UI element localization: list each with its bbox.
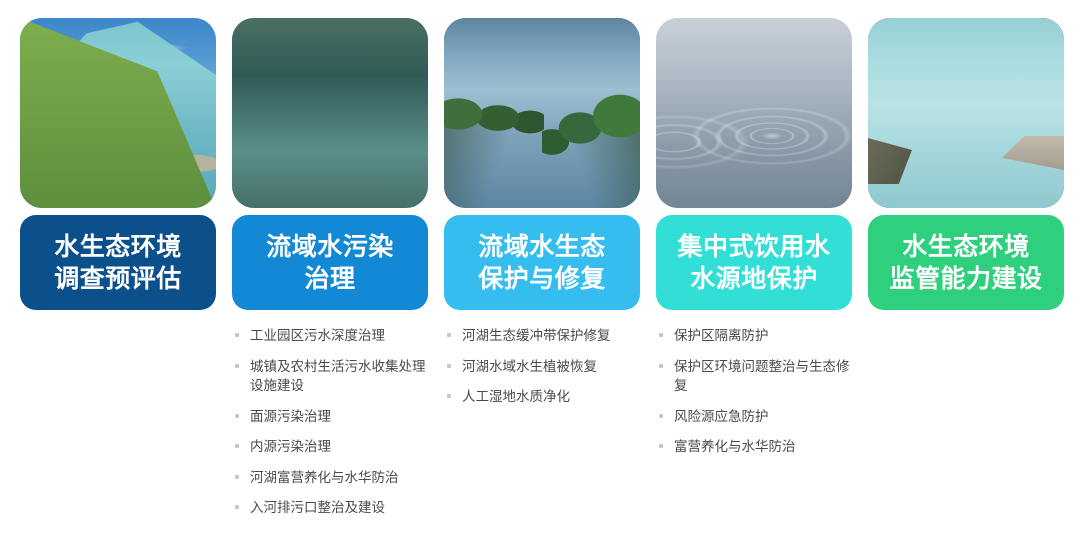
thumbnail-snow-mountain-river-photo [868,18,1064,208]
photo-right-gravel-bank-layer [868,18,1064,208]
thumbnail-mountain-river-forest-photo [20,18,216,208]
bullet-dot-icon [235,444,239,448]
program-list-item[interactable]: 河湖生态缓冲带保护修复 [444,326,640,346]
bullet-dot-icon [235,364,239,368]
program-title-text-1: 水生态环境调查预评估 [54,231,182,295]
program-title-card-1[interactable]: 水生态环境调查预评估 [20,215,216,310]
program-title-card-2[interactable]: 流域水污染治理 [232,215,428,310]
thumbnail-river-with-green-banks-photo [444,18,640,208]
bullet-dot-icon [447,364,451,368]
program-column-4: 集中式饮用水水源地保护 保护区隔离防护保护区环境问题整治与生态修复风险源应急防护… [656,18,852,473]
program-list-item-label: 工业园区污水深度治理 [250,328,385,343]
program-list-item-label: 人工湿地水质净化 [462,389,570,404]
program-title-text-4: 集中式饮用水水源地保护 [677,231,830,295]
program-title-card-5[interactable]: 水生态环境监管能力建设 [868,215,1064,310]
program-item-list-4: 保护区隔离防护保护区环境问题整治与生态修复风险源应急防护富营养化与水华防治 [656,326,852,457]
program-column-3: 流域水生态保护与修复 河湖生态缓冲带保护修复河湖水域水生植被恢复人工湿地水质净化 [444,18,640,423]
photo-shading-layer [656,18,852,208]
program-title-card-4[interactable]: 集中式饮用水水源地保护 [656,215,852,310]
program-list-item-label: 内源污染治理 [250,439,331,454]
program-list-item-label: 河湖富营养化与水华防治 [250,470,399,485]
program-list-item-label: 入河排污口整治及建设 [250,500,385,515]
bullet-dot-icon [235,414,239,418]
water-ecology-program-board: 水生态环境调查预评估 流域水污染治理 工业园区污水深度治理城镇及农村生活污水收集… [0,0,1080,540]
program-list-item[interactable]: 保护区环境问题整治与生态修复 [656,357,852,396]
photo-pond-layer [232,18,428,208]
thumbnail-water-treatment-plant-photo [232,18,428,208]
bullet-dot-icon [659,444,663,448]
program-list-item[interactable]: 河湖水域水生植被恢复 [444,357,640,377]
program-title-text-5: 水生态环境监管能力建设 [889,231,1042,295]
bullet-dot-icon [659,414,663,418]
program-item-list-3: 河湖生态缓冲带保护修复河湖水域水生植被恢复人工湿地水质净化 [444,326,640,407]
bullet-dot-icon [659,364,663,368]
bullet-dot-icon [235,475,239,479]
program-list-item-label: 面源污染治理 [250,409,331,424]
program-list-item-label: 富营养化与水华防治 [674,439,796,454]
program-list-item-label: 河湖水域水生植被恢复 [462,359,597,374]
program-list-item[interactable]: 河湖富营养化与水华防治 [232,468,428,488]
program-title-text-3: 流域水生态保护与修复 [478,231,606,295]
program-title-card-3[interactable]: 流域水生态保护与修复 [444,215,640,310]
program-list-item-label: 风险源应急防护 [674,409,769,424]
bullet-dot-icon [235,505,239,509]
bullet-dot-icon [659,333,663,337]
program-list-item[interactable]: 面源污染治理 [232,407,428,427]
bullet-dot-icon [447,394,451,398]
program-item-list-2: 工业园区污水深度治理城镇及农村生活污水收集处理设施建设面源污染治理内源污染治理河… [232,326,428,518]
program-list-item-label: 河湖生态缓冲带保护修复 [462,328,611,343]
program-list-item-label: 保护区环境问题整治与生态修复 [674,359,850,394]
program-column-5: 水生态环境监管能力建设 [868,18,1064,326]
program-title-text-2: 流域水污染治理 [266,231,394,295]
program-column-1: 水生态环境调查预评估 [20,18,216,326]
thumbnail-water-ripples-photo [656,18,852,208]
program-list-item[interactable]: 工业园区污水深度治理 [232,326,428,346]
program-list-item[interactable]: 保护区隔离防护 [656,326,852,346]
program-list-item[interactable]: 人工湿地水质净化 [444,387,640,407]
program-column-2: 流域水污染治理 工业园区污水深度治理城镇及农村生活污水收集处理设施建设面源污染治… [232,18,428,534]
program-list-item[interactable]: 内源污染治理 [232,437,428,457]
program-list-item-label: 保护区隔离防护 [674,328,769,343]
program-list-item[interactable]: 富营养化与水华防治 [656,437,852,457]
bullet-dot-icon [235,333,239,337]
program-list-item-label: 城镇及农村生活污水收集处理设施建设 [250,359,426,394]
bullet-dot-icon [447,333,451,337]
photo-right-trees-layer [444,18,640,208]
program-list-item[interactable]: 入河排污口整治及建设 [232,498,428,518]
program-list-item[interactable]: 城镇及农村生活污水收集处理设施建设 [232,357,428,396]
program-list-item[interactable]: 风险源应急防护 [656,407,852,427]
